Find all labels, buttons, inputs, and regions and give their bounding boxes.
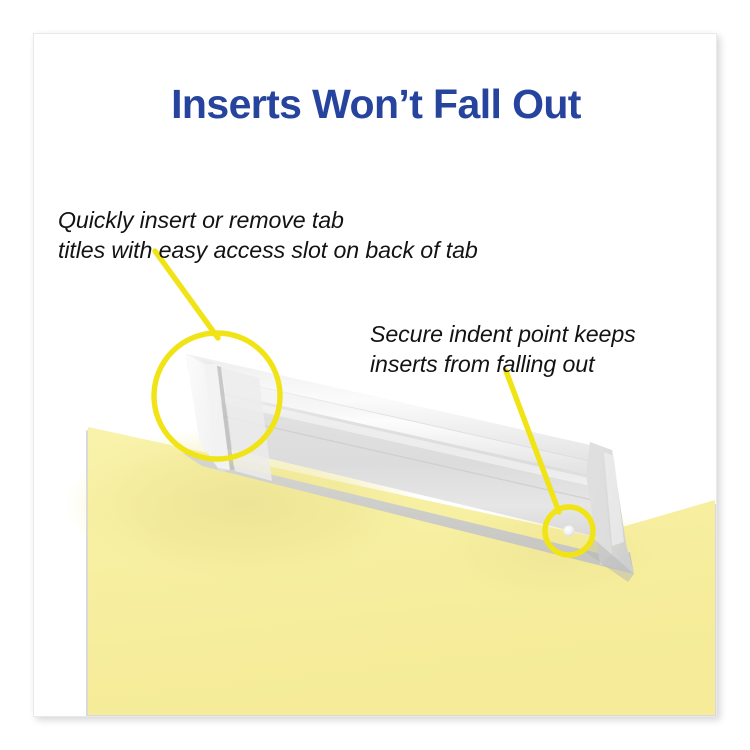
callout-label-secure-indent-point: Secure indent point keeps inserts from f… <box>370 319 636 379</box>
indent-point-dimple <box>564 526 575 537</box>
page-title: Inserts Won’t Fall Out <box>34 83 717 126</box>
callout-label-line-2: inserts from falling out <box>370 349 636 379</box>
callout-label-line-2: titles with easy access slot on back of … <box>58 235 478 265</box>
product-feature-image: Inserts Won’t Fall Out Quickly insert or… <box>0 0 750 750</box>
callout-label-line-1: Secure indent point keeps <box>370 319 636 349</box>
image-frame: Inserts Won’t Fall Out Quickly insert or… <box>33 33 717 717</box>
callout-label-easy-access-slot: Quickly insert or remove tab titles with… <box>58 205 478 265</box>
callout-label-line-1: Quickly insert or remove tab <box>58 205 478 235</box>
